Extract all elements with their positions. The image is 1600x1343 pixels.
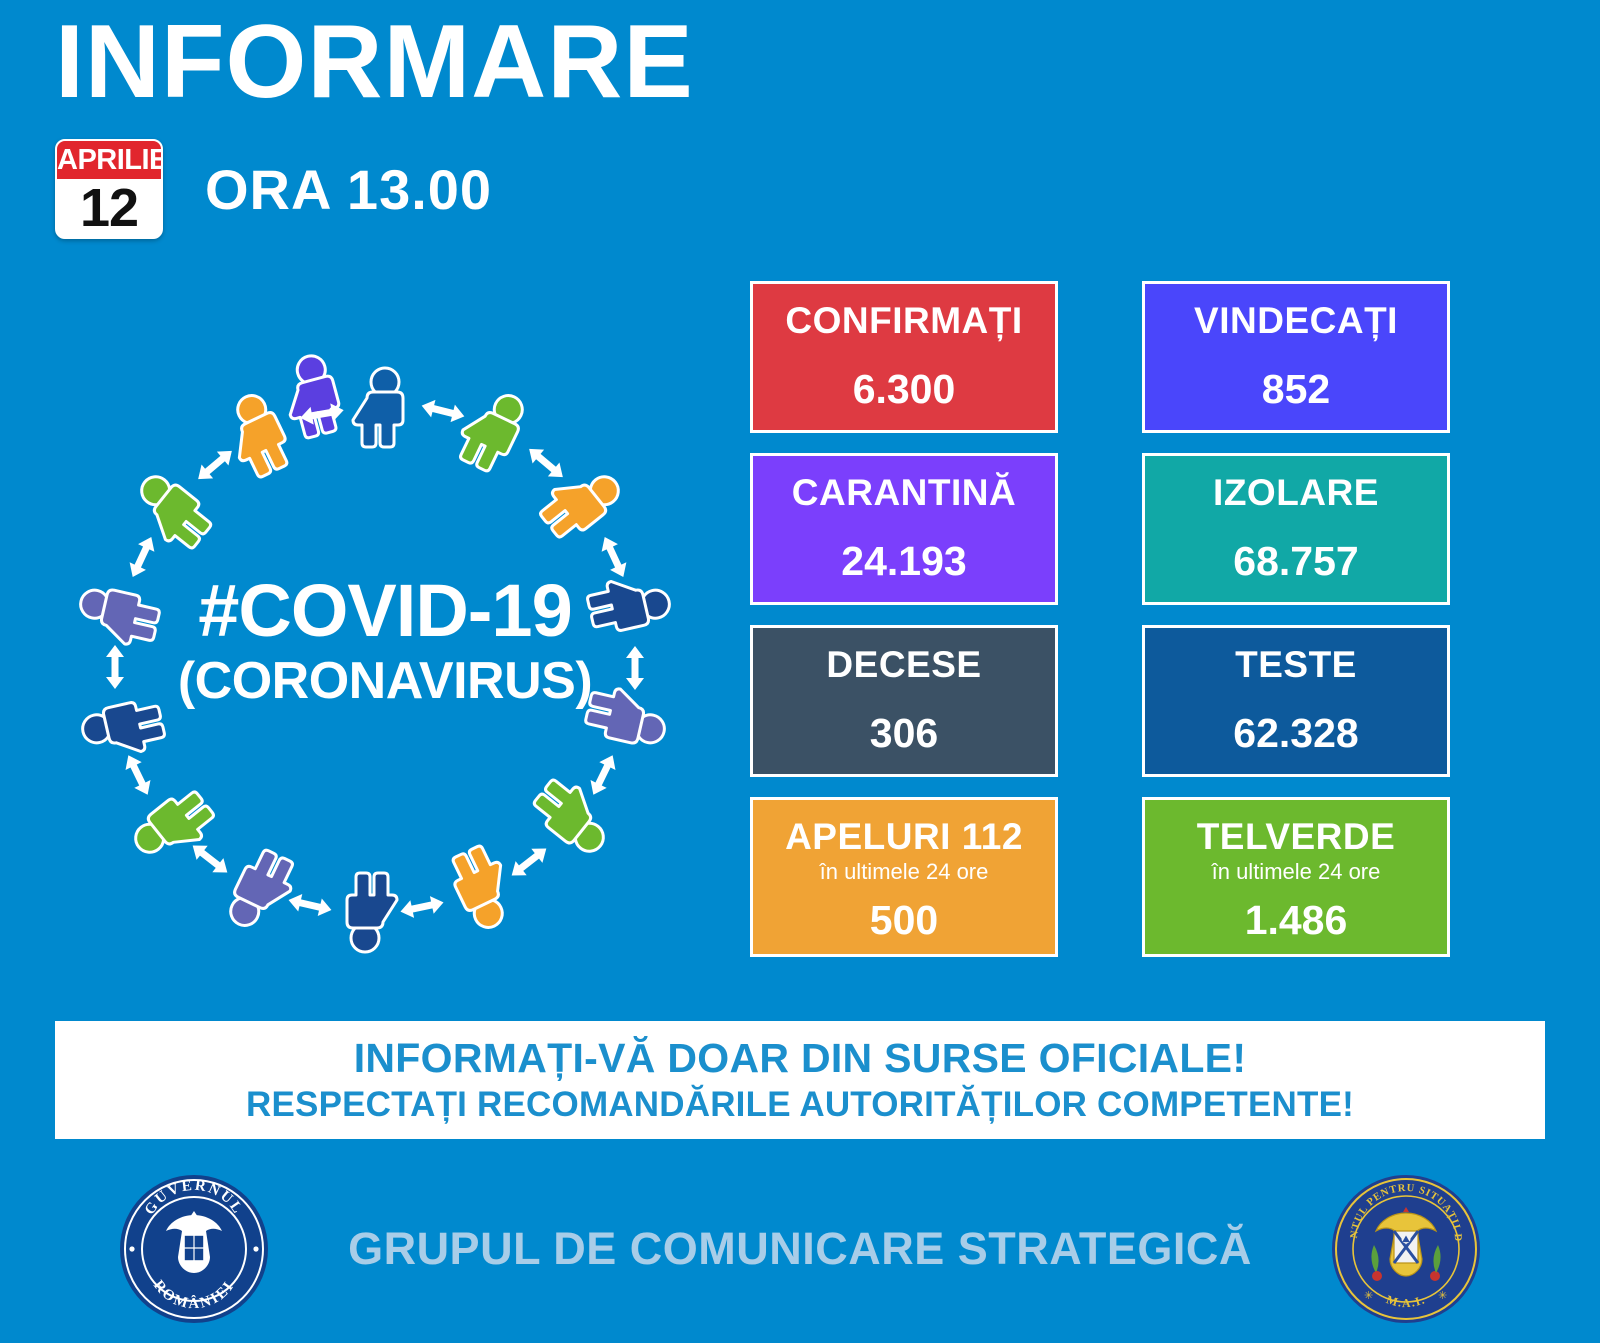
advisory-line-1: INFORMAȚI-VĂ DOAR DIN SURSE OFICIALE!	[354, 1034, 1247, 1082]
date-bar: APRILIE 12 ORA 13.00	[55, 139, 694, 239]
stat-value: 24.193	[759, 539, 1049, 584]
covid-distancing-graphic: #COVID-19 (CORONAVIRUS)	[60, 335, 710, 985]
stat-value: 6.300	[759, 367, 1049, 412]
stat-value: 68.757	[1151, 539, 1441, 584]
stat-card-izolare: IZOLARE 68.757	[1142, 453, 1450, 605]
stats-grid: CONFIRMAȚI 6.300 VINDECAȚI 852 CARANTINĂ…	[750, 281, 1460, 957]
dsu-mai-seal-icon: DEPARTAMENTUL PENTRU SITUAȚII DE URGENȚĂ…	[1330, 1173, 1482, 1325]
stat-card-apeluri-112: APELURI 112 în ultimele 24 ore 500	[750, 797, 1058, 957]
stat-label: VINDECAȚI	[1151, 300, 1441, 341]
advisory-line-2: RESPECTAȚI RECOMANDĂRILE AUTORITĂȚILOR C…	[246, 1084, 1354, 1126]
stat-label: CONFIRMAȚI	[759, 300, 1049, 341]
calendar-day-label: 12	[57, 179, 161, 237]
person-ring	[74, 352, 673, 952]
stat-label: TELVERDE	[1151, 816, 1441, 857]
header: INFORMARE APRILIE 12 ORA 13.00	[55, 8, 694, 239]
stat-label: IZOLARE	[1151, 472, 1441, 513]
stat-value: 852	[1151, 367, 1441, 412]
stat-label: APELURI 112	[759, 816, 1049, 857]
stat-label: TESTE	[1151, 644, 1441, 685]
footer-organization-label: GRUPUL DE COMUNICARE STRATEGICĂ	[270, 1223, 1330, 1275]
stat-value: 62.328	[1151, 711, 1441, 756]
footer: GUVERNUL ROMÂNIEI GRUPUL DE COMUNICARE S…	[0, 1155, 1600, 1343]
advisory-banner: INFORMAȚI-VĂ DOAR DIN SURSE OFICIALE! RE…	[55, 1021, 1545, 1139]
calendar-icon: APRILIE 12	[55, 139, 163, 239]
svg-text:✳: ✳	[1438, 1290, 1447, 1302]
hour-label: ORA 13.00	[205, 157, 492, 222]
stat-value: 500	[759, 898, 1049, 943]
stat-card-teste: TESTE 62.328	[1142, 625, 1450, 777]
stat-label: DECESE	[759, 644, 1049, 685]
svg-text:✳: ✳	[1364, 1290, 1373, 1302]
stat-value: 1.486	[1151, 898, 1441, 943]
stat-card-telverde: TELVERDE în ultimele 24 ore 1.486	[1142, 797, 1450, 957]
page-title: INFORMARE	[55, 8, 694, 117]
stat-value: 306	[759, 711, 1049, 756]
stat-card-carantina: CARANTINĂ 24.193	[750, 453, 1058, 605]
stat-label: CARANTINĂ	[759, 472, 1049, 513]
stat-card-vindecati: VINDECAȚI 852	[1142, 281, 1450, 433]
calendar-month-label: APRILIE	[57, 141, 161, 179]
stat-card-confirmati: CONFIRMAȚI 6.300	[750, 281, 1058, 433]
stat-sublabel: în ultimele 24 ore	[759, 859, 1049, 885]
guvernul-romaniei-seal-icon: GUVERNUL ROMÂNIEI	[118, 1173, 270, 1325]
stat-card-decese: DECESE 306	[750, 625, 1058, 777]
stat-sublabel: în ultimele 24 ore	[1151, 859, 1441, 885]
